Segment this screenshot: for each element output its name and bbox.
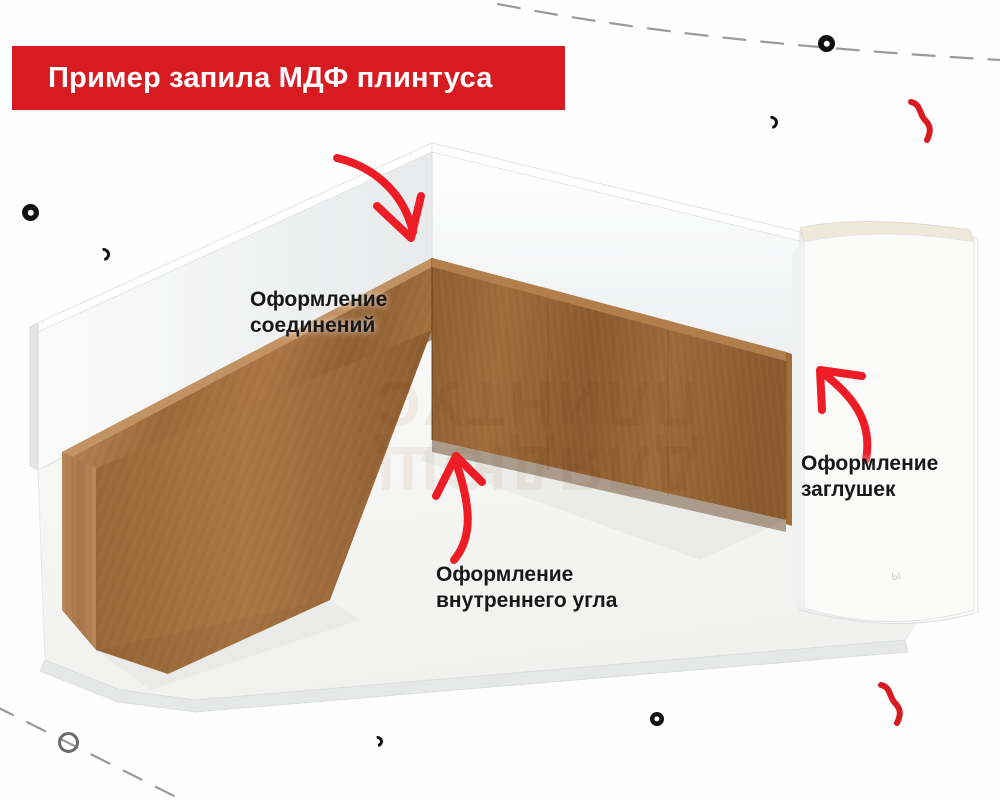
baseboard-scene: Ы xyxy=(0,0,1000,800)
banner-title-text: Пример запила МДФ плинтуса xyxy=(48,62,493,95)
left-wall-side-edge xyxy=(30,323,38,470)
title-banner: Пример запила МДФ плинтуса xyxy=(12,46,565,110)
callout-end-caps: Оформление заглушек xyxy=(801,451,938,502)
callout-joints: Оформление соединений xyxy=(250,287,387,338)
infographic-canvas: Ы ДЛЯДЮЩ ПЛИНТУС Пример запила МДФ плинт… xyxy=(0,0,1000,800)
end-cap-face xyxy=(804,234,974,622)
floor-print-mark: Ы xyxy=(891,571,901,583)
callout-inner-corner: Оформление внутреннего угла xyxy=(436,562,617,613)
end-cap-left-shoulder xyxy=(792,242,804,608)
